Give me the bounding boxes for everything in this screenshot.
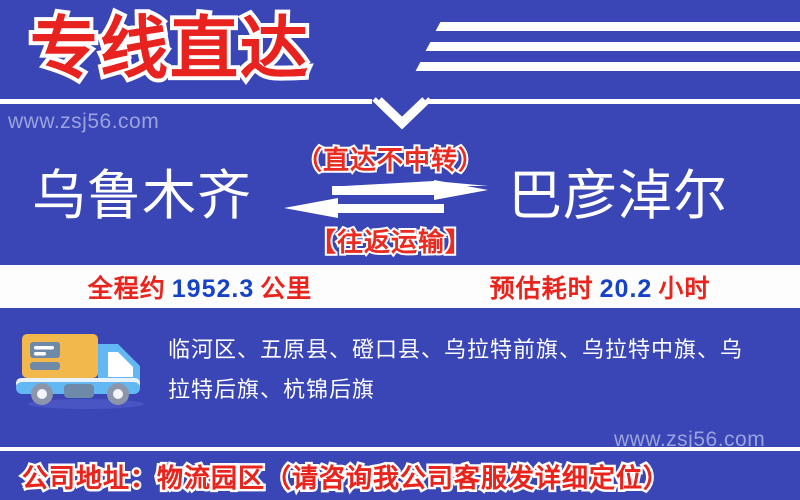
duration-label-prefix: 预估耗时 xyxy=(490,275,594,303)
distance-label-prefix: 全程约 xyxy=(88,275,166,303)
logistics-route-banner: 专线直达 专线直达 www.zsj56.com www.zsj56.com 乌鲁… xyxy=(0,0,800,500)
duration-info: 预估耗时20.2小时 xyxy=(400,269,800,305)
header-divider-left xyxy=(0,99,372,104)
route-info-band: 全程约1952.3公里 预估耗时20.2小时 xyxy=(0,265,800,308)
company-address-text-fill: 公司地址：物流园区（请咨询我公司客服发详细定位） xyxy=(22,458,670,495)
header-divider-right xyxy=(428,99,800,104)
badge-round-trip: 【往返运输】 xyxy=(310,222,472,259)
header-stripe-1 xyxy=(436,22,800,31)
distance-info: 全程约1952.3公里 xyxy=(0,269,400,305)
coverage-line-1: 临河区、五原县、磴口县、乌拉特前旗、乌拉特中旗、乌 xyxy=(168,330,788,370)
origin-city: 乌鲁木齐 xyxy=(32,163,252,229)
coverage-area-list: 临河区、五原县、磴口县、乌拉特前旗、乌拉特中旗、乌 拉特后旗、杭锦后旗 xyxy=(168,330,788,410)
chevron-down-icon xyxy=(356,96,448,136)
duration-label-suffix: 小时 xyxy=(658,275,710,303)
footer-divider xyxy=(0,447,800,451)
delivery-truck-icon xyxy=(12,322,160,410)
header-stripe-3 xyxy=(416,62,800,71)
distance-label-suffix: 公里 xyxy=(260,275,312,303)
distance-value: 1952.3 xyxy=(166,275,260,303)
headline-title-fill: 专线直达 xyxy=(30,6,310,92)
destination-city: 巴彦淖尔 xyxy=(508,163,728,229)
coverage-line-2: 拉特后旗、杭锦后旗 xyxy=(168,370,788,410)
badge-direct-no-transfer: （直达不中转） xyxy=(296,140,485,177)
header-stripe-2 xyxy=(426,42,800,51)
bidirectional-arrow-icon xyxy=(284,180,488,224)
duration-value: 20.2 xyxy=(594,275,659,303)
watermark-top: www.zsj56.com xyxy=(8,110,159,134)
banner-header: 专线直达 专线直达 xyxy=(0,0,800,103)
